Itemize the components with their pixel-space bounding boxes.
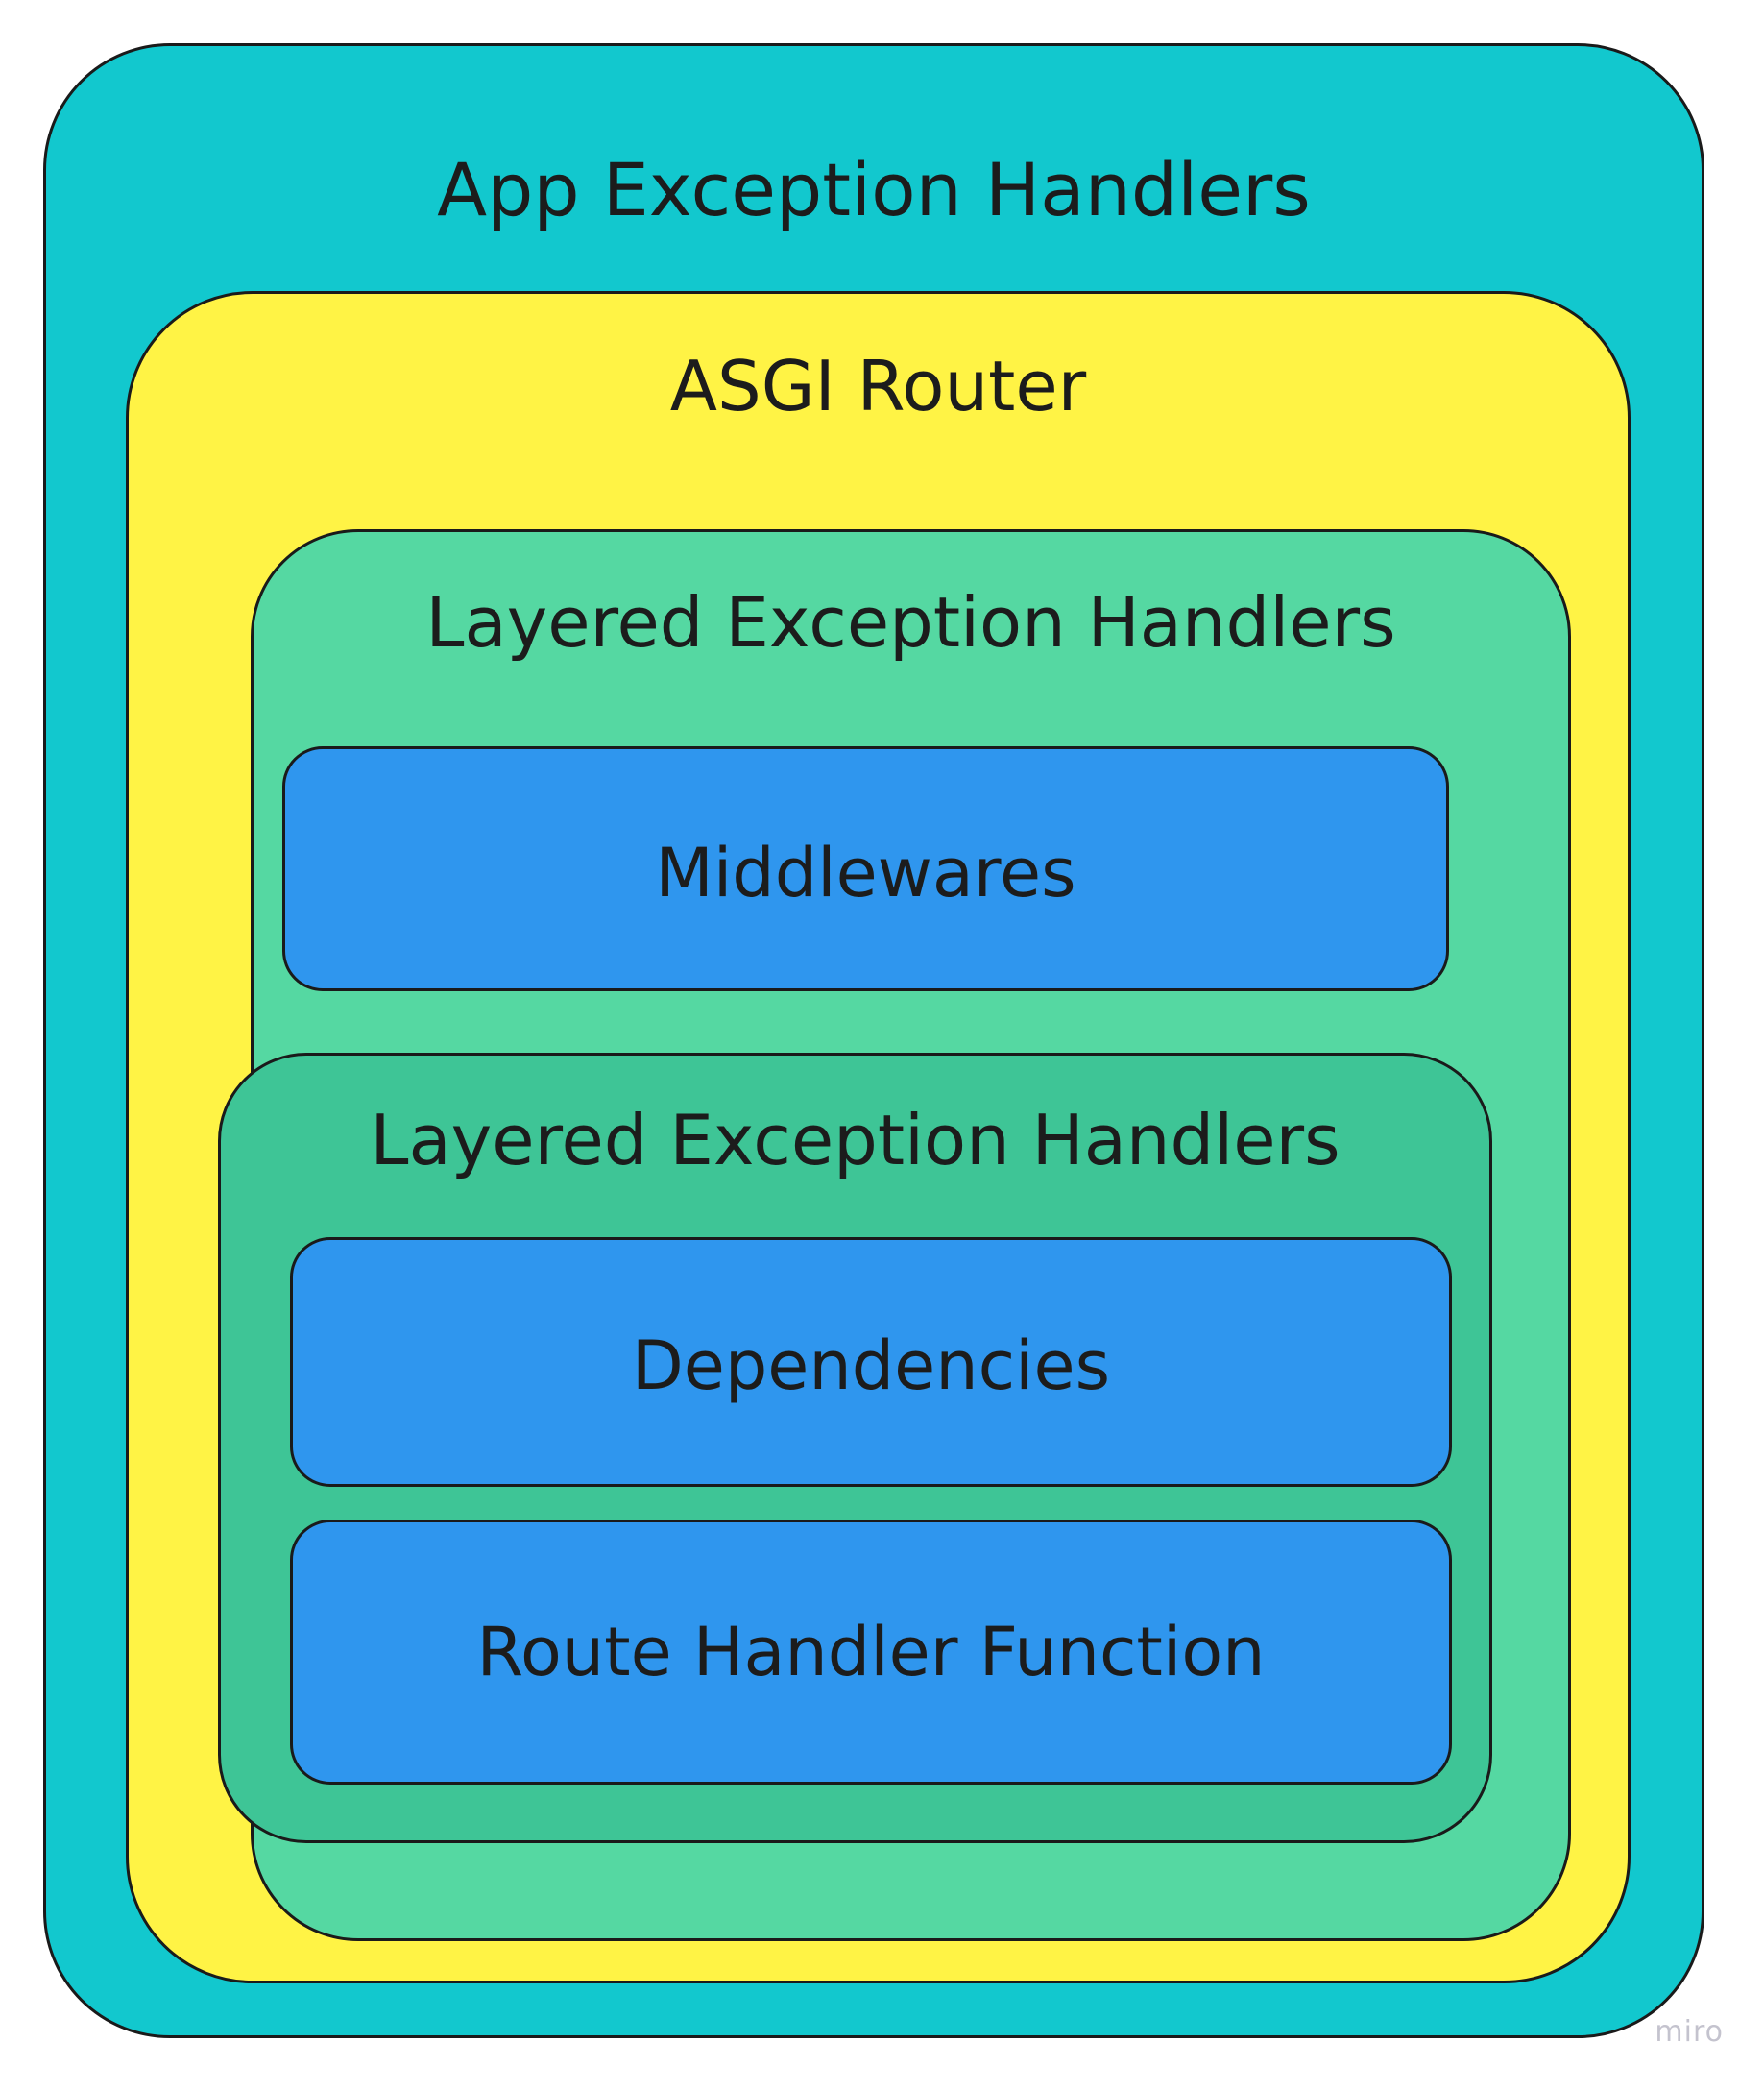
layer-layered-exception-handlers-outer-label: Layered Exception Handlers bbox=[254, 588, 1568, 657]
layer-layered-exception-handlers-outer[interactable]: Layered Exception Handlers Middlewares L… bbox=[251, 529, 1571, 1941]
layer-app-exception-handlers-label: App Exception Handlers bbox=[46, 154, 1702, 227]
box-route-handler-function[interactable]: Route Handler Function bbox=[290, 1520, 1452, 1785]
box-middlewares-label: Middlewares bbox=[285, 839, 1446, 907]
layer-layered-exception-handlers-inner[interactable]: Layered Exception Handlers Dependencies … bbox=[218, 1053, 1492, 1843]
box-middlewares[interactable]: Middlewares bbox=[282, 746, 1449, 991]
layer-app-exception-handlers[interactable]: App Exception Handlers ASGI Router Layer… bbox=[43, 43, 1704, 2038]
box-dependencies[interactable]: Dependencies bbox=[290, 1237, 1452, 1487]
layer-asgi-router[interactable]: ASGI Router Layered Exception Handlers M… bbox=[126, 291, 1631, 1983]
box-route-handler-function-label: Route Handler Function bbox=[293, 1618, 1449, 1686]
layer-asgi-router-label: ASGI Router bbox=[129, 352, 1628, 421]
miro-watermark: miro bbox=[1655, 2015, 1724, 2049]
diagram-canvas: App Exception Handlers ASGI Router Layer… bbox=[0, 0, 1764, 2091]
box-dependencies-label: Dependencies bbox=[293, 1332, 1449, 1399]
layer-layered-exception-handlers-inner-label: Layered Exception Handlers bbox=[221, 1106, 1489, 1175]
